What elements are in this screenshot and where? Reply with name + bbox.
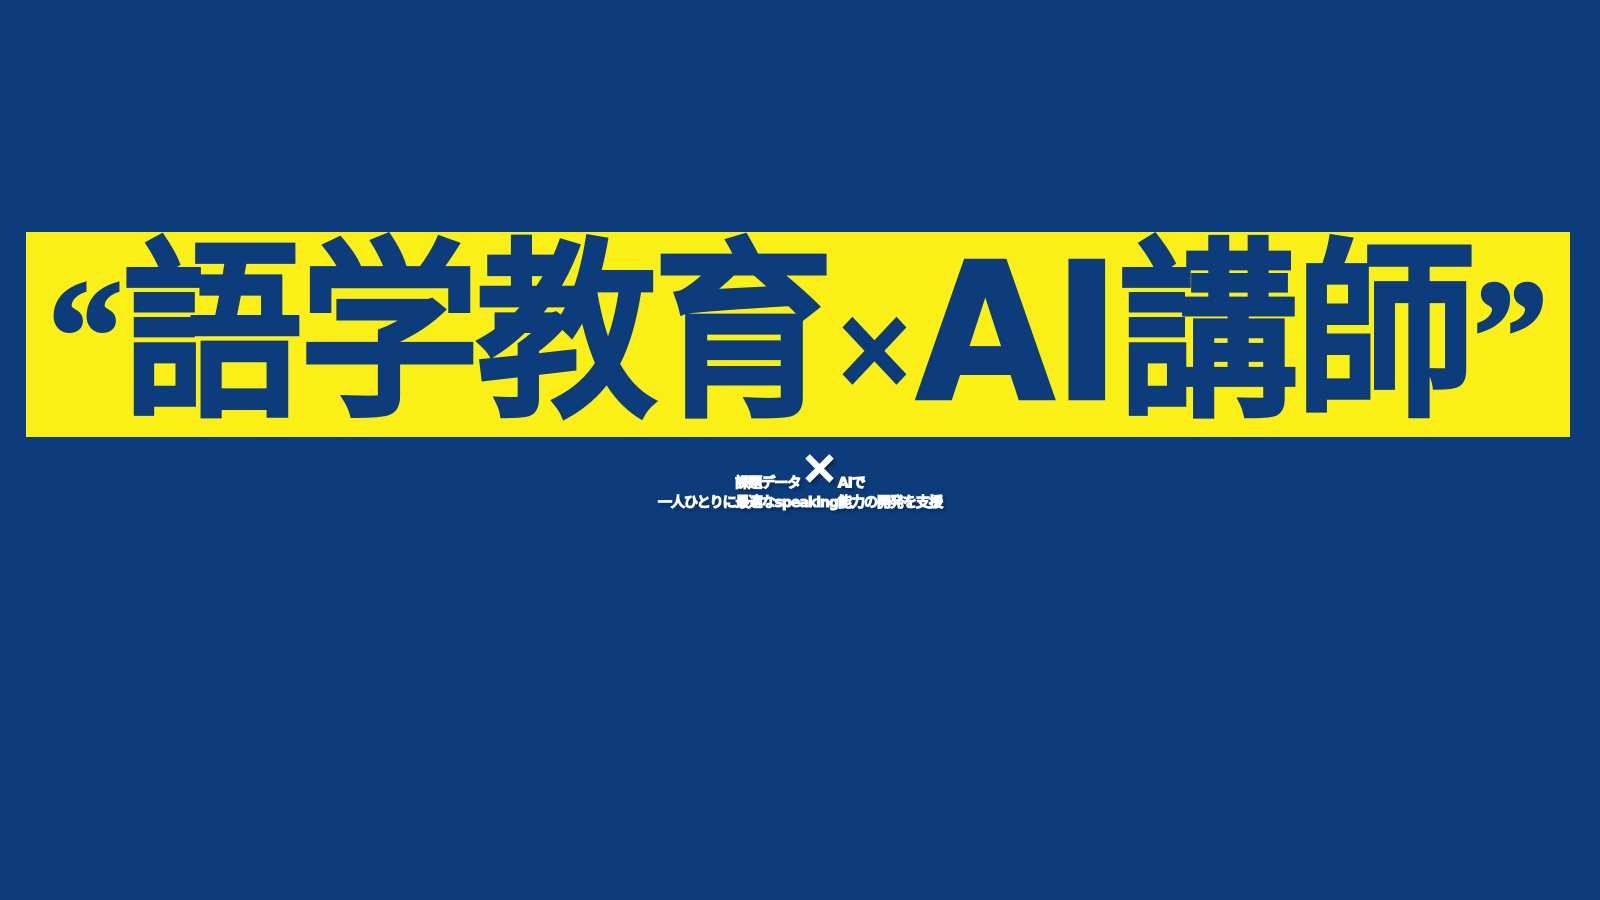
close-quote-mark: ” [1473, 248, 1548, 424]
subtitle-line-2-segment-speaking: speaking [775, 495, 838, 511]
open-quote-mark: “ [48, 248, 123, 424]
slide-root: “語学教育×AI講師” 課題データ×AIで 一人ひとりに最適なspeaking能… [0, 0, 1600, 900]
subtitle-line-1-segment-2: AIで [838, 476, 865, 492]
multiplication-sign-icon: × [800, 440, 838, 494]
subtitle-line-2-segment-1: 一人ひとりに最適な [658, 495, 775, 511]
multiplication-sign-icon: × [831, 283, 916, 412]
subtitle-line-2-segment-3: 能力の開発を支援 [838, 495, 942, 511]
page-title: “語学教育×AI講師” [48, 240, 1548, 430]
title-banner: “語学教育×AI講師” [26, 232, 1570, 437]
subtitle-line-1: 課題データ×AIで [0, 458, 1600, 494]
subtitle-line-2: 一人ひとりに最適なspeaking能力の開発を支援 [0, 494, 1600, 513]
title-segment-ai: AI [916, 232, 1119, 437]
subtitle-line-1-segment-1: 課題データ [735, 476, 800, 492]
subtitle-block: 課題データ×AIで 一人ひとりに最適なspeaking能力の開発を支援 [0, 458, 1600, 513]
title-segment-language-education: 語学教育 [123, 232, 831, 437]
title-segment-instructor: 講師 [1119, 232, 1473, 437]
